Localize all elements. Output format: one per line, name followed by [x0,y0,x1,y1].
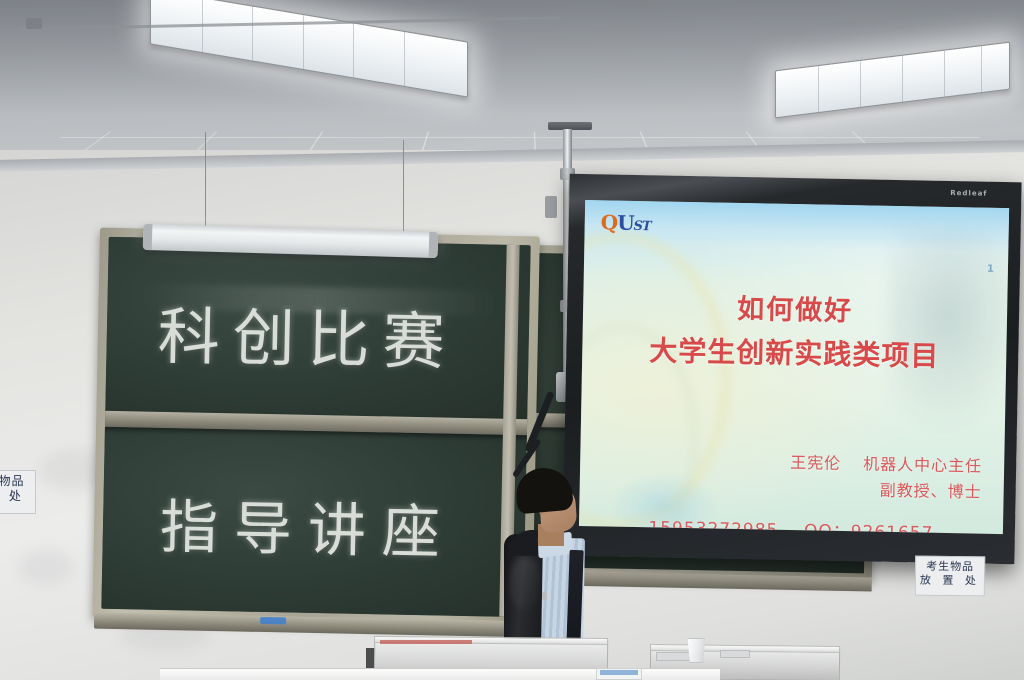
logo-letter-q: Q [601,210,618,234]
chalk-tray-magnet [260,617,286,625]
blackboard-text-line1: 科创比赛 [101,285,519,383]
logo-letters-st: ST [633,219,650,234]
logo-letter-u: U [617,211,634,235]
blackboard-surface: 科创比赛 指导讲座 [101,237,530,617]
presenter-phone: 15953272985 [648,518,778,534]
presenter-qq: QQ：9261657 [804,521,934,534]
person-jacket-highlight [510,558,540,610]
person-hair [514,466,574,515]
presenter-role: 机器人中心主任 [863,454,982,475]
qust-logo: QUST [601,210,651,235]
desk-item-b [720,650,750,658]
sign-left-line2: 置 处 [0,489,35,504]
slide-contact-line: 15953272985 QQ：9261657 [579,512,1003,534]
wall-speaker-box [545,196,557,218]
slide-page-number: 1 [987,264,994,275]
lamp-wire-left [205,132,206,232]
projection-screen-frame[interactable]: Redleaf QUST 1 如何做好 大学生创新实践类项目 王宪伦机器人中心主… [562,174,1021,565]
slide-title-line2: 大学生创新实践类项目 [582,328,1007,380]
projection-screen-surface[interactable]: QUST 1 如何做好 大学生创新实践类项目 王宪伦机器人中心主任 副教授、博士… [579,200,1009,534]
slide-presenter-block: 王宪伦机器人中心主任 副教授、博士 [579,446,1004,507]
sign-right-line1: 考生物品 [916,560,984,574]
lectern-red-strip [380,640,472,644]
blackboard-text-line2: 指导讲座 [101,479,520,571]
blackboard-panel-top: 科创比赛 [105,237,530,421]
blackboard: 科创比赛 指导讲座 [92,228,540,627]
sign-right-storage: 考生物品 放 置 处 [915,556,985,597]
desk-item-a [656,652,690,661]
presenter-name: 王宪伦 [790,453,863,473]
screen-brand-label: Redleaf [950,189,987,198]
sign-right-line2: 放 置 处 [916,573,984,587]
lamp-wire-right [403,140,404,236]
classroom-photo: 科创比赛 指导讲座 Redleaf QUST [0,0,1024,680]
desk-paper-blue-band [600,670,638,675]
sign-left-storage: 生物品 置 处 [0,470,36,514]
wall-junction-box [26,18,42,29]
sign-left-line1: 生物品 [0,474,35,489]
person-jacket-button [542,592,547,600]
slide-title: 如何做好 大学生创新实践类项目 [582,286,1008,379]
